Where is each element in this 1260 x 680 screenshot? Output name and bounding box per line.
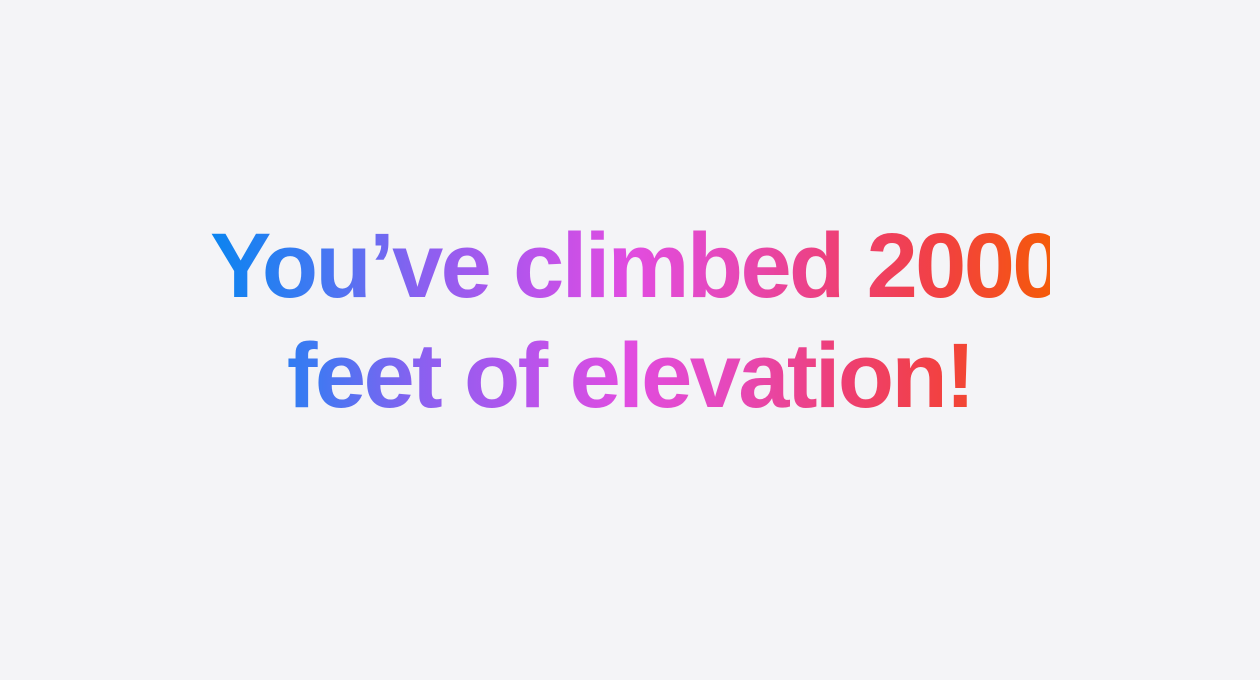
achievement-headline-line-1: You’ve climbed 2000 [210, 211, 1050, 321]
achievement-headline-line-2: feet of elevation! [210, 321, 1050, 431]
achievement-headline: You’ve climbed 2000 feet of elevation! [210, 211, 1050, 431]
achievement-screen: You’ve climbed 2000 feet of elevation! [0, 0, 1260, 680]
achievement-message: You’ve climbed 2000 feet of elevation! [210, 211, 1050, 431]
